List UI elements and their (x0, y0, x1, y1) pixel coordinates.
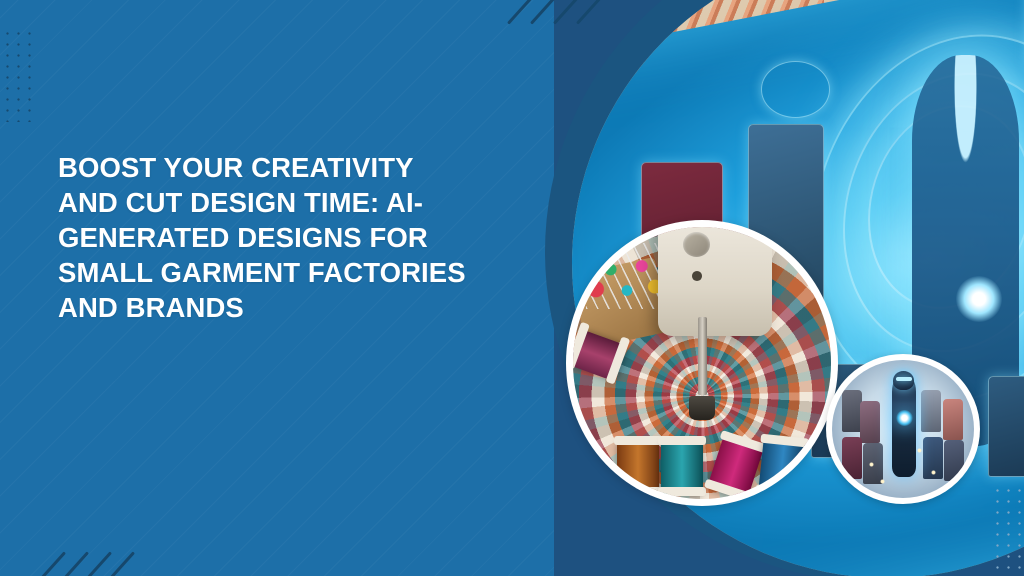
sewing-pins (586, 243, 669, 308)
stroke-line (530, 0, 555, 25)
dot-grid-bottom-right (992, 485, 1024, 576)
robot-body (892, 375, 916, 477)
robot-chest-core (896, 410, 913, 427)
robot-eye-glow (896, 377, 912, 382)
thread-spool (759, 436, 807, 496)
robot-image-clip (832, 360, 974, 498)
stroke-line (507, 0, 532, 25)
banner-headline: Boost Your Creativity and Cut Design Tim… (58, 150, 478, 325)
glow-core (956, 276, 1002, 322)
promo-banner: Boost Your Creativity and Cut Design Tim… (0, 0, 1024, 576)
stroke-line (87, 551, 112, 576)
sewing-image-clip (573, 227, 831, 499)
stroke-line (64, 551, 89, 576)
hanging-garment (842, 390, 862, 431)
sewing-artwork (573, 227, 831, 499)
light-spark (880, 479, 885, 484)
diagonal-strokes-top-left (518, 0, 618, 28)
headline-block: Boost Your Creativity and Cut Design Tim… (58, 150, 478, 325)
hanging-garment (921, 390, 941, 431)
dot-grid-top-left (2, 28, 36, 122)
hanging-garment (943, 399, 963, 440)
thread-spool (661, 438, 703, 494)
stroke-line (576, 0, 601, 25)
sewing-machine-embroidery-image (566, 220, 838, 506)
hanging-garment (944, 440, 964, 481)
hanging-garment (842, 437, 862, 478)
diagonal-strokes-bottom-left (52, 548, 152, 576)
garment-thumbnail (988, 376, 1024, 477)
presser-foot (689, 396, 715, 420)
stroke-line (553, 0, 578, 25)
sewing-machine-head (658, 227, 772, 336)
light-spark (869, 462, 874, 467)
light-spark (917, 448, 922, 453)
ai-robot-clothing-rack-image (826, 354, 980, 504)
hanging-garment (860, 401, 880, 442)
hud-circle-small (761, 61, 830, 118)
thread-spool (617, 438, 659, 494)
stroke-line (110, 551, 135, 576)
needle-shaft (698, 317, 707, 395)
stroke-line (41, 551, 66, 576)
